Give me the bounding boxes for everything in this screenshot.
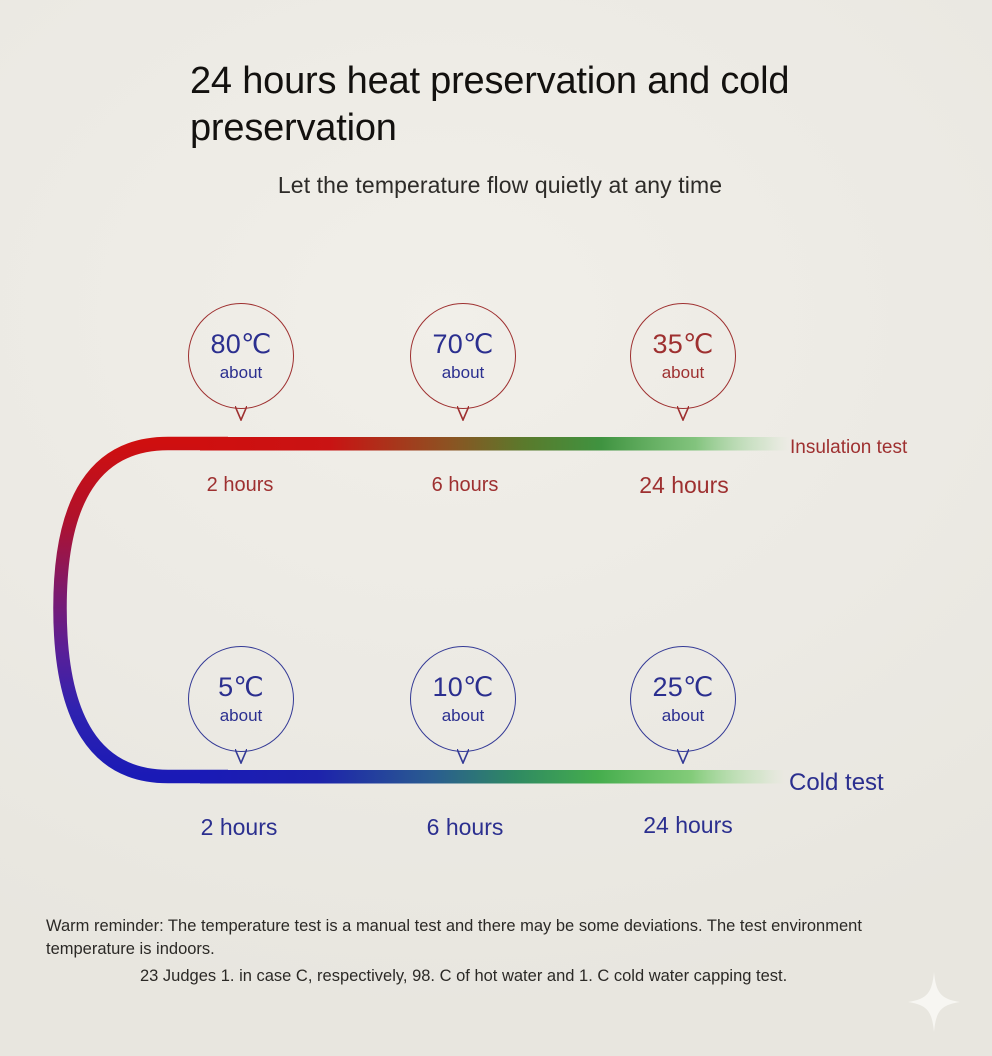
- temperature-track: [0, 0, 992, 1056]
- insulation-test-label: Insulation test: [790, 437, 907, 459]
- temperature-qualifier: about: [442, 363, 485, 383]
- bubble-tail-icon: [457, 749, 469, 764]
- cold-test-label: Cold test: [789, 769, 884, 797]
- insulation-time-1: 2 hours: [160, 474, 320, 497]
- infographic-canvas: 24 hours heat preservation and cold pres…: [0, 0, 992, 1056]
- cold-time-1: 2 hours: [159, 814, 319, 841]
- temperature-value: 10℃: [433, 672, 494, 702]
- insulation-bubble-2[interactable]: 70℃ about: [410, 303, 516, 409]
- page-title: 24 hours heat preservation and cold pres…: [190, 58, 830, 152]
- bubble-tail-icon: [677, 749, 689, 764]
- insulation-time-3: 24 hours: [604, 472, 764, 499]
- temperature-qualifier: about: [220, 363, 263, 383]
- cold-bubble-1[interactable]: 5℃ about: [188, 646, 294, 752]
- bubble-tail-icon: [235, 406, 247, 421]
- temperature-value: 25℃: [653, 672, 714, 702]
- judges-note: 23 Judges 1. in case C, respectively, 98…: [140, 965, 930, 988]
- bubble-tail-icon: [235, 749, 247, 764]
- insulation-bar: [200, 437, 790, 451]
- warm-reminder-note: Warm reminder: The temperature test is a…: [46, 915, 918, 961]
- temperature-value: 80℃: [211, 329, 272, 359]
- temperature-qualifier: about: [220, 706, 263, 726]
- cold-bubble-2[interactable]: 10℃ about: [410, 646, 516, 752]
- temperature-value: 70℃: [433, 329, 494, 359]
- temperature-qualifier: about: [662, 706, 705, 726]
- temperature-value: 35℃: [653, 329, 714, 359]
- temperature-value: 5℃: [218, 672, 264, 702]
- page-subtitle: Let the temperature flow quietly at any …: [190, 172, 810, 199]
- bubble-tail-icon: [457, 406, 469, 421]
- insulation-time-2: 6 hours: [385, 474, 545, 497]
- cold-time-3: 24 hours: [608, 812, 768, 839]
- sparkle-icon: [908, 972, 960, 1032]
- temperature-qualifier: about: [442, 706, 485, 726]
- bubble-tail-icon: [677, 406, 689, 421]
- insulation-bubble-1[interactable]: 80℃ about: [188, 303, 294, 409]
- temperature-qualifier: about: [662, 363, 705, 383]
- insulation-bubble-3[interactable]: 35℃ about: [630, 303, 736, 409]
- cold-bar: [200, 770, 785, 784]
- cold-bubble-3[interactable]: 25℃ about: [630, 646, 736, 752]
- cold-time-2: 6 hours: [385, 814, 545, 841]
